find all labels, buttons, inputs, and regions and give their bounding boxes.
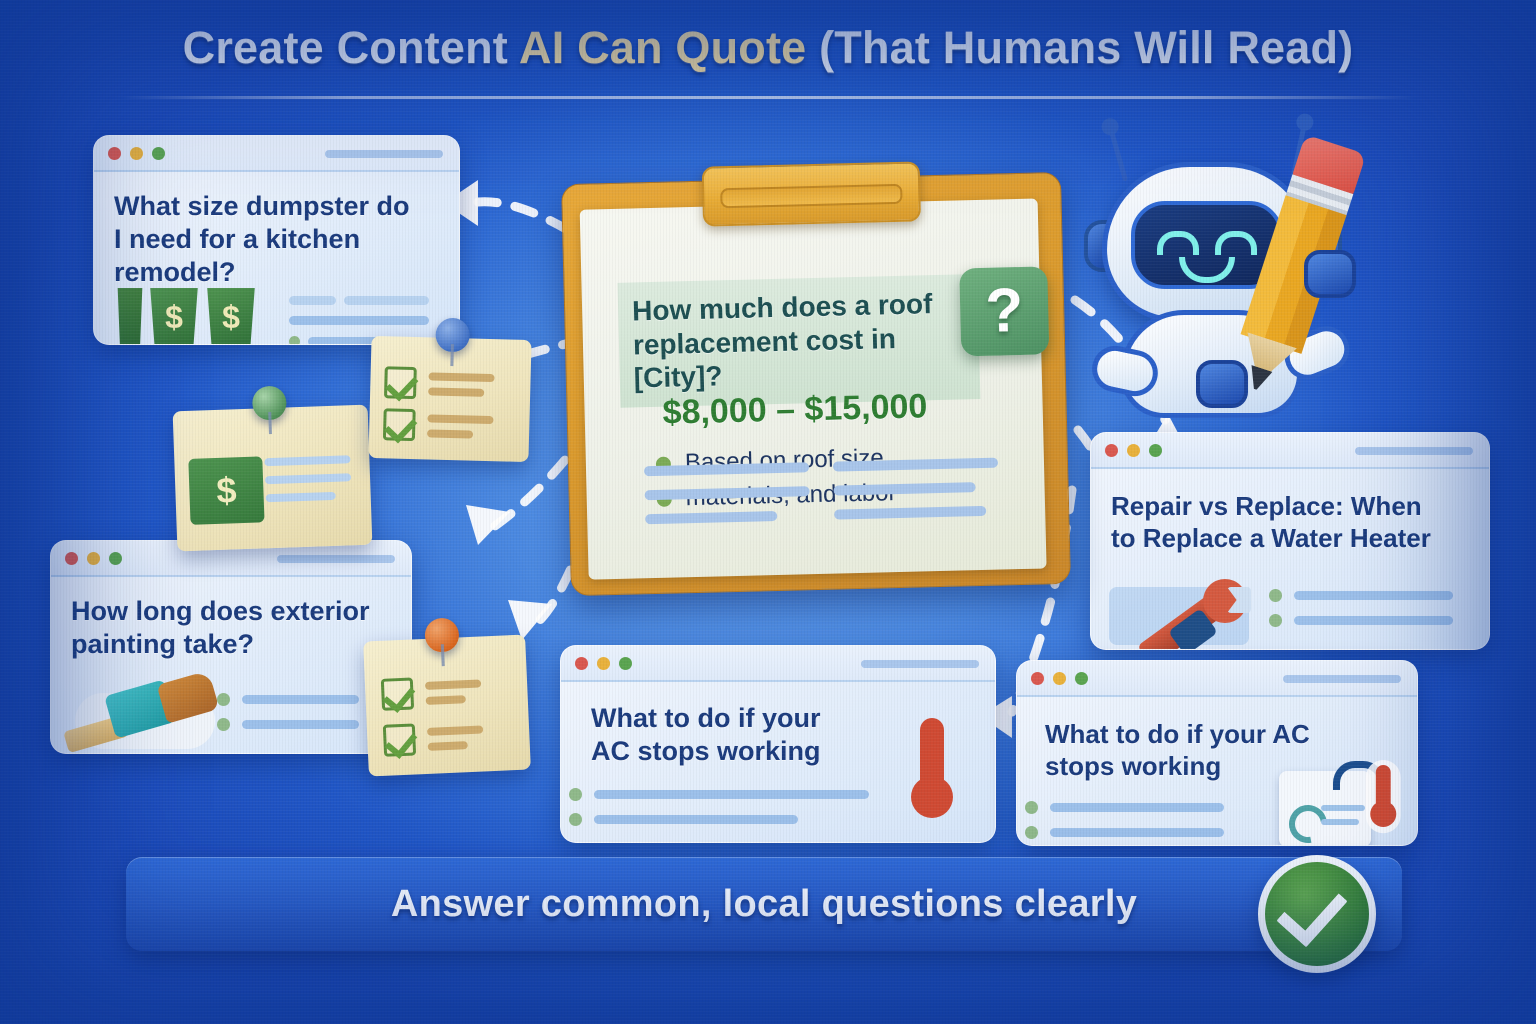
browser-title-bar bbox=[94, 136, 459, 172]
thermometer-icon bbox=[909, 718, 955, 828]
push-pin-green-icon bbox=[252, 385, 287, 420]
card-dumpster-question[interactable]: What size dumpster do I need for a kitch… bbox=[93, 135, 460, 345]
card-question-line-2: to Replace a Water Heater bbox=[1111, 523, 1469, 555]
robot-smile-icon bbox=[1179, 257, 1235, 283]
money-bill-icon: $ bbox=[188, 456, 264, 525]
url-bar[interactable] bbox=[325, 150, 443, 158]
answer-clipboard[interactable]: How much does a roof replacement cost in… bbox=[561, 172, 1071, 596]
question-mark-glyph: ? bbox=[985, 280, 1024, 343]
sticky-note-checklist-bottom[interactable] bbox=[363, 635, 531, 777]
close-dot-icon[interactable] bbox=[1031, 672, 1044, 685]
sticky-note-checklist-top[interactable] bbox=[368, 336, 531, 462]
url-bar[interactable] bbox=[861, 660, 979, 668]
browser-title-bar bbox=[561, 646, 995, 682]
clipboard-question: How much does a roof replacement cost in… bbox=[632, 286, 966, 395]
robot-eye-right-icon bbox=[1215, 231, 1257, 255]
card-ac-question-center[interactable]: What to do if your AC stops working bbox=[560, 645, 996, 843]
push-pin-blue-icon bbox=[435, 318, 470, 353]
card-text-lines bbox=[1025, 801, 1265, 846]
title-part-1: Create Content bbox=[183, 22, 519, 73]
clipboard-clamp bbox=[702, 161, 921, 226]
url-bar[interactable] bbox=[277, 555, 395, 563]
url-bar[interactable] bbox=[1283, 675, 1401, 683]
maximize-dot-icon[interactable] bbox=[619, 657, 632, 670]
bottom-banner[interactable]: Answer common, local questions clearly bbox=[126, 857, 1402, 951]
push-pin-orange-icon bbox=[424, 617, 459, 652]
checkbox-checked-icon[interactable] bbox=[384, 366, 417, 399]
robot-antenna-left-icon bbox=[1109, 130, 1128, 181]
green-check-circle-icon bbox=[1258, 855, 1376, 973]
window-controls[interactable] bbox=[1105, 444, 1162, 457]
checkbox-checked-icon[interactable] bbox=[383, 408, 416, 441]
maximize-dot-icon[interactable] bbox=[152, 147, 165, 160]
price-range: $8,000 – $15,000 bbox=[662, 387, 928, 432]
paint-brush-icon bbox=[65, 687, 225, 749]
maximize-dot-icon[interactable] bbox=[109, 552, 122, 565]
card-ac-question-right[interactable]: What to do if your AC stops working bbox=[1016, 660, 1418, 846]
checklist-row bbox=[381, 675, 482, 711]
minimize-dot-icon[interactable] bbox=[130, 147, 143, 160]
window-controls[interactable] bbox=[1031, 672, 1088, 685]
wrench-icon bbox=[1121, 577, 1251, 650]
card-question-line-2: painting take? bbox=[71, 628, 391, 661]
minimize-dot-icon[interactable] bbox=[87, 552, 100, 565]
url-bar[interactable] bbox=[1355, 447, 1473, 455]
minimize-dot-icon[interactable] bbox=[597, 657, 610, 670]
checklist-row bbox=[383, 720, 484, 756]
card-question-line-2: I need for a kitchen remodel? bbox=[114, 223, 439, 289]
checkbox-checked-icon[interactable] bbox=[383, 723, 416, 756]
card-text-lines bbox=[569, 788, 869, 838]
card-question-line-1: How long does exterior bbox=[71, 595, 391, 628]
window-controls[interactable] bbox=[65, 552, 122, 565]
bottom-banner-text: Answer common, local questions clearly bbox=[391, 883, 1137, 926]
minimize-dot-icon[interactable] bbox=[1127, 444, 1140, 457]
close-dot-icon[interactable] bbox=[575, 657, 588, 670]
clipboard-page: How much does a roof replacement cost in… bbox=[580, 199, 1047, 580]
document-phone-thermometer-icon bbox=[1279, 771, 1405, 845]
robot-hand-right bbox=[1304, 250, 1356, 298]
checkbox-checked-icon[interactable] bbox=[381, 677, 414, 710]
title-divider bbox=[118, 96, 1418, 99]
card-question-line-1: What to do if your AC bbox=[1045, 719, 1397, 751]
checklist-row bbox=[383, 408, 494, 443]
minimize-dot-icon[interactable] bbox=[1053, 672, 1066, 685]
close-dot-icon[interactable] bbox=[1105, 444, 1118, 457]
maximize-dot-icon[interactable] bbox=[1149, 444, 1162, 457]
card-text-lines bbox=[217, 693, 359, 743]
window-controls[interactable] bbox=[108, 147, 165, 160]
browser-title-bar bbox=[1091, 433, 1489, 469]
maximize-dot-icon[interactable] bbox=[1075, 672, 1088, 685]
clipboard-placeholder-lines bbox=[644, 458, 1000, 539]
card-question-line-1: What size dumpster do bbox=[114, 190, 439, 223]
robot-eye-left-icon bbox=[1157, 231, 1199, 255]
title-highlight: AI Can Quote bbox=[519, 22, 806, 73]
browser-title-bar bbox=[1017, 661, 1417, 697]
dumpster-money-icon: $ $ bbox=[116, 288, 258, 345]
close-dot-icon[interactable] bbox=[65, 552, 78, 565]
infographic-canvas: Create Content AI Can Quote (That Humans… bbox=[0, 0, 1536, 1024]
checklist-row bbox=[384, 366, 495, 401]
page-title: Create Content AI Can Quote (That Humans… bbox=[0, 22, 1536, 74]
robot-mascot bbox=[1068, 124, 1398, 424]
card-question-line-1: Repair vs Replace: When bbox=[1111, 491, 1469, 523]
window-controls[interactable] bbox=[575, 657, 632, 670]
close-dot-icon[interactable] bbox=[108, 147, 121, 160]
sticky-note-money[interactable]: $ bbox=[173, 405, 373, 552]
card-text-lines bbox=[1269, 589, 1453, 639]
question-mark-icon: ? bbox=[959, 266, 1049, 356]
title-part-2: (That Humans Will Read) bbox=[806, 22, 1353, 73]
card-exterior-painting-question[interactable]: How long does exterior painting take? bbox=[50, 540, 412, 754]
card-water-heater-question[interactable]: Repair vs Replace: When to Replace a Wat… bbox=[1090, 432, 1490, 650]
